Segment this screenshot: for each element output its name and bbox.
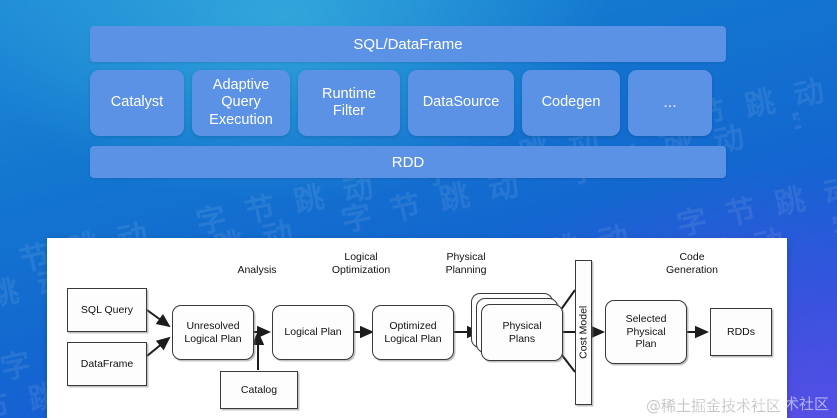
stage-label-analysis: Analysis (215, 264, 299, 277)
architecture-stack: SQL/DataFrame Catalyst Adaptive Query Ex… (90, 26, 726, 178)
node-label: Unresolved Logical Plan (184, 320, 241, 345)
component-catalyst: Catalyst (90, 70, 184, 136)
component-row: Catalyst Adaptive Query Execution Runtim… (90, 70, 726, 136)
component-adaptive-query-execution: Adaptive Query Execution (192, 70, 290, 136)
pipeline-diagram: Analysis Logical Optimization Physical P… (47, 238, 787, 418)
node-label: RDDs (727, 326, 755, 339)
node-cost-model: Cost Model (575, 260, 592, 405)
node-label: SQL Query (81, 304, 133, 317)
node-catalog: Catalog (220, 371, 298, 409)
component-datasource: DataSource (408, 70, 514, 136)
catalyst-pipeline-panel: Analysis Logical Optimization Physical P… (47, 238, 787, 418)
node-unresolved-logical-plan: Unresolved Logical Plan (172, 305, 254, 360)
node-dataframe: DataFrame (67, 342, 147, 386)
sql-dataframe-bar: SQL/DataFrame (90, 26, 726, 62)
component-label: Catalyst (111, 94, 163, 111)
panel-watermark: @稀土掘金技术社区 (646, 395, 781, 416)
stage-label-physical-planning: Physical Planning (421, 251, 511, 276)
stage-label-logical-optimization: Logical Optimization (309, 251, 413, 276)
component-codegen: Codegen (522, 70, 620, 136)
node-label: Physical Plans (502, 320, 541, 345)
component-runtime-filter: Runtime Filter (298, 70, 400, 136)
component-label: Adaptive Query Execution (209, 77, 273, 128)
node-label: Logical Plan (284, 326, 341, 339)
component-label: DataSource (423, 94, 500, 111)
component-label: Codegen (542, 94, 601, 111)
component-label: ... (663, 94, 676, 113)
component-label: Runtime Filter (322, 86, 376, 120)
component-more: ... (628, 70, 712, 136)
slide-canvas: 字节跳动 字节跳动 字节跳动 字节跳动 字节跳动 字节跳动 字节跳动 字节跳动 … (0, 0, 837, 418)
node-label: Catalog (241, 384, 277, 397)
node-selected-physical-plan: Selected Physical Plan (605, 300, 687, 364)
node-label: Cost Model (577, 306, 590, 359)
node-optimized-logical-plan: Optimized Logical Plan (372, 305, 454, 360)
rdd-bar: RDD (90, 146, 726, 178)
node-label: Selected Physical Plan (626, 313, 667, 351)
node-rdds: RDDs (710, 308, 772, 356)
node-label: Optimized Logical Plan (384, 320, 441, 345)
node-sql-query: SQL Query (67, 288, 147, 332)
stage-label-code-generation: Code Generation (647, 251, 737, 276)
node-physical-plans: Physical Plans (481, 304, 563, 361)
node-label: DataFrame (81, 358, 134, 371)
node-logical-plan: Logical Plan (272, 305, 354, 360)
